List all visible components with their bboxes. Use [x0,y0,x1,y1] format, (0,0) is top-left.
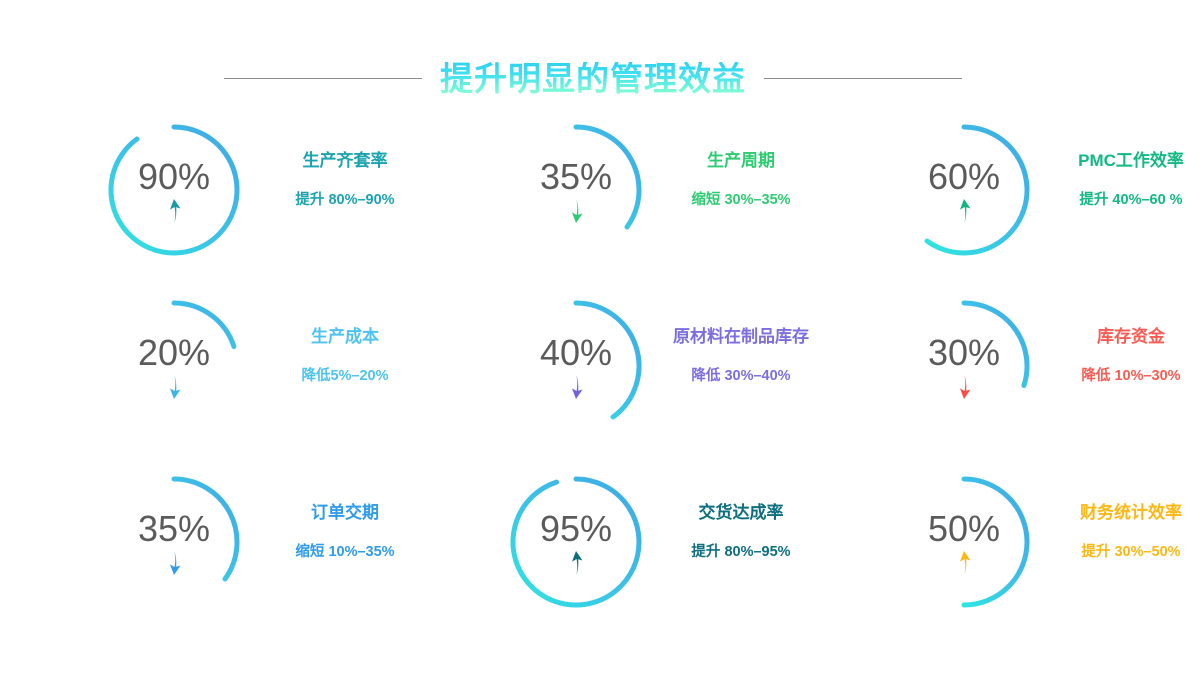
metric-label: 生产周期 [707,152,775,171]
metric-label: 生产齐套率 [303,152,388,171]
progress-ring: 20% [104,296,244,436]
progress-arc [576,127,639,227]
progress-ring-svg [104,120,244,260]
progress-ring: 35% [506,120,646,260]
metric-info: 库存资金 降低 10%–30% [1056,328,1186,385]
metric-label: 原材料在制品库存 [673,328,809,347]
metric-info: 生产齐套率 提升 80%–90% [270,152,420,209]
progress-arc [111,127,237,253]
progress-arc [174,479,237,579]
progress-ring-svg [506,120,646,260]
progress-ring: 50% [894,472,1034,612]
progress-ring-svg [894,120,1034,260]
metric-delta: 提升 30%–50% [1081,545,1180,561]
metric-info: 订单交期 缩短 10%–35% [270,504,420,561]
metric-delta: 提升 80%–90% [295,193,394,209]
progress-ring: 95% [506,472,646,612]
progress-ring-svg [506,472,646,612]
metric-card: 90% 生产齐套率 提升 80%–90% [0,118,420,294]
metric-card: 35% 生产周期 缩短 30%–35% [420,118,816,294]
metric-card: 40% 原材料在制品库存 降低 30%–40% [420,294,816,470]
progress-arc [174,303,234,347]
metric-info: 生产周期 缩短 30%–35% [666,152,816,209]
metric-info: PMC工作效率 提升 40%–60 % [1056,152,1186,209]
progress-ring: 40% [506,296,646,436]
page-title: 提升明显的管理效益 [440,62,746,95]
metric-info: 原材料在制品库存 降低 30%–40% [666,328,816,385]
metric-grid: 90% 生产齐套率 提升 80%–90% [0,118,1186,663]
metric-delta: 提升 80%–95% [691,545,790,561]
progress-ring-svg [894,296,1034,436]
metric-card: 60% PMC工作效率 提升 40%–60 % [816,118,1186,294]
metric-card: 30% 库存资金 降低 10%–30% [816,294,1186,470]
metric-card: 20% 生产成本 降低5%–20% [0,294,420,470]
metric-label: 订单交期 [311,504,379,523]
metric-delta: 缩短 10%–35% [295,545,394,561]
metric-label: 财务统计效率 [1080,504,1182,523]
progress-arc [964,479,1027,605]
metric-label: PMC工作效率 [1078,152,1184,171]
progress-ring-svg [506,296,646,436]
metric-label: 交货达成率 [699,504,784,523]
metric-delta: 缩短 30%–35% [691,193,790,209]
metric-delta: 降低 10%–30% [1081,369,1180,385]
progress-ring-svg [104,472,244,612]
progress-arc [576,303,639,417]
progress-arc [964,303,1027,385]
page-header: 提升明显的管理效益 [0,52,1186,104]
progress-ring-svg [894,472,1034,612]
progress-ring-svg [104,296,244,436]
header-rule-left [224,78,422,79]
metric-card: 95% 交货达成率 提升 80%–95% [420,470,816,646]
header-rule-right [764,78,962,79]
metric-delta: 提升 40%–60 % [1079,193,1182,209]
metric-card: 50% 财务统计效率 提升 30%–50% [816,470,1186,646]
progress-arc [927,127,1027,253]
metric-card: 35% 订单交期 缩短 10%–35% [0,470,420,646]
metric-info: 生产成本 降低5%–20% [270,328,420,385]
progress-ring: 90% [104,120,244,260]
metric-info: 财务统计效率 提升 30%–50% [1056,504,1186,561]
progress-ring: 60% [894,120,1034,260]
progress-arc [513,479,639,605]
metric-delta: 降低 30%–40% [691,369,790,385]
metric-label: 生产成本 [311,328,379,347]
metric-info: 交货达成率 提升 80%–95% [666,504,816,561]
progress-ring: 35% [104,472,244,612]
progress-ring: 30% [894,296,1034,436]
metric-delta: 降低5%–20% [301,369,388,385]
metric-label: 库存资金 [1097,328,1165,347]
